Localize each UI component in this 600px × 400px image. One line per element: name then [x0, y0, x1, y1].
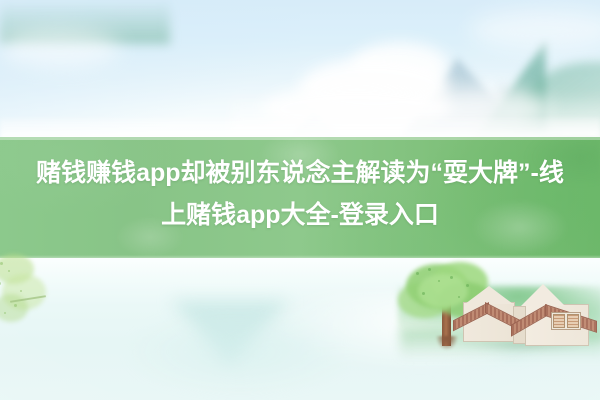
leaf-speck — [4, 312, 6, 314]
house-gable-right — [521, 284, 565, 306]
leaf-speck — [438, 280, 440, 282]
window-pane-left — [553, 314, 565, 328]
leaf-speck — [8, 270, 10, 272]
cloud-icon — [0, 28, 120, 68]
leaf-speck — [0, 282, 1, 285]
banner-headline: 赌钱赚钱app却被别东说念主解读为“耍大牌”-线 上赌钱app大全-登录入口 — [0, 152, 600, 236]
left-edge-foliage — [0, 252, 52, 330]
leaf-speck — [0, 262, 3, 265]
promo-banner-image: 赌钱赚钱app却被别东说念主解读为“耍大牌”-线 上赌钱app大全-登录入口 — [0, 0, 600, 400]
leaf-speck — [422, 292, 425, 295]
leaf-speck — [428, 268, 431, 271]
leaf-speck — [20, 290, 22, 292]
headline-line-2: 上赌钱app大全-登录入口 — [0, 194, 600, 236]
band-top-edge — [0, 137, 600, 140]
house-gable-left — [465, 286, 513, 304]
house — [455, 276, 595, 352]
leaf-speck — [450, 276, 453, 279]
headline-line-1: 赌钱赚钱app却被别东说念主解读为“耍大牌”-线 — [0, 152, 600, 194]
leaf-speck — [416, 272, 419, 275]
house-window — [551, 312, 581, 330]
leaf-speck — [14, 304, 17, 307]
window-pane-right — [567, 314, 579, 328]
